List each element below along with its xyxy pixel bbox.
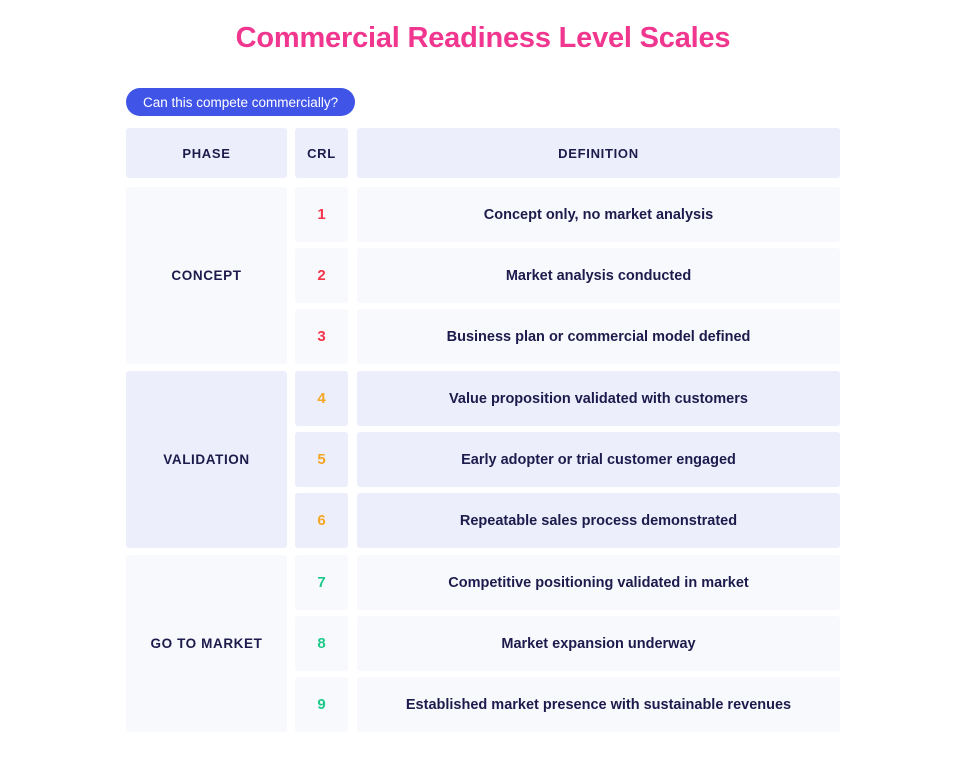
phase-group: VALIDATION4Value proposition validated w…	[126, 371, 840, 548]
crl-number: 1	[295, 187, 348, 242]
definition-text: Early adopter or trial customer engaged	[357, 432, 840, 487]
definition-text: Market expansion underway	[357, 616, 840, 671]
phase-group: CONCEPT1Concept only, no market analysis…	[126, 187, 840, 364]
question-badge-label: Can this compete commercially?	[143, 95, 338, 110]
header-spacer	[126, 178, 840, 187]
column-header-definition: DEFINITION	[357, 128, 840, 178]
definition-text: Concept only, no market analysis	[357, 187, 840, 242]
column-header-phase: PHASE	[126, 128, 287, 178]
phase-label: VALIDATION	[126, 371, 287, 548]
phase-group: GO TO MARKET7Competitive positioning val…	[126, 555, 840, 732]
crl-number: 6	[295, 493, 348, 548]
column-header-crl: CRL	[295, 128, 348, 178]
crl-number: 9	[295, 677, 348, 732]
definition-text: Established market presence with sustain…	[357, 677, 840, 732]
readiness-scale-infographic: Commercial Readiness Level Scales Can th…	[0, 0, 966, 758]
readiness-table: PHASE CRL DEFINITION CONCEPT1Concept onl…	[126, 128, 840, 732]
table-row: 5Early adopter or trial customer engaged	[295, 432, 840, 487]
table-row: 2Market analysis conducted	[295, 248, 840, 303]
page-title: Commercial Readiness Level Scales	[0, 22, 966, 55]
crl-number: 7	[295, 555, 348, 610]
phase-level-rows: 7Competitive positioning validated in ma…	[295, 555, 840, 732]
crl-number: 5	[295, 432, 348, 487]
table-row: 6Repeatable sales process demonstrated	[295, 493, 840, 548]
phase-level-rows: 4Value proposition validated with custom…	[295, 371, 840, 548]
table-row: 3Business plan or commercial model defin…	[295, 309, 840, 364]
table-row: 9Established market presence with sustai…	[295, 677, 840, 732]
phase-group-list: CONCEPT1Concept only, no market analysis…	[126, 187, 840, 732]
phase-level-rows: 1Concept only, no market analysis2Market…	[295, 187, 840, 364]
definition-text: Business plan or commercial model define…	[357, 309, 840, 364]
definition-text: Competitive positioning validated in mar…	[357, 555, 840, 610]
phase-label: CONCEPT	[126, 187, 287, 364]
definition-text: Market analysis conducted	[357, 248, 840, 303]
question-badge: Can this compete commercially?	[126, 88, 355, 116]
crl-number: 8	[295, 616, 348, 671]
crl-number: 3	[295, 309, 348, 364]
table-row: 7Competitive positioning validated in ma…	[295, 555, 840, 610]
table-row: 8Market expansion underway	[295, 616, 840, 671]
crl-number: 4	[295, 371, 348, 426]
definition-text: Value proposition validated with custome…	[357, 371, 840, 426]
phase-label: GO TO MARKET	[126, 555, 287, 732]
definition-text: Repeatable sales process demonstrated	[357, 493, 840, 548]
table-header-row: PHASE CRL DEFINITION	[126, 128, 840, 178]
crl-number: 2	[295, 248, 348, 303]
table-row: 1Concept only, no market analysis	[295, 187, 840, 242]
table-row: 4Value proposition validated with custom…	[295, 371, 840, 426]
